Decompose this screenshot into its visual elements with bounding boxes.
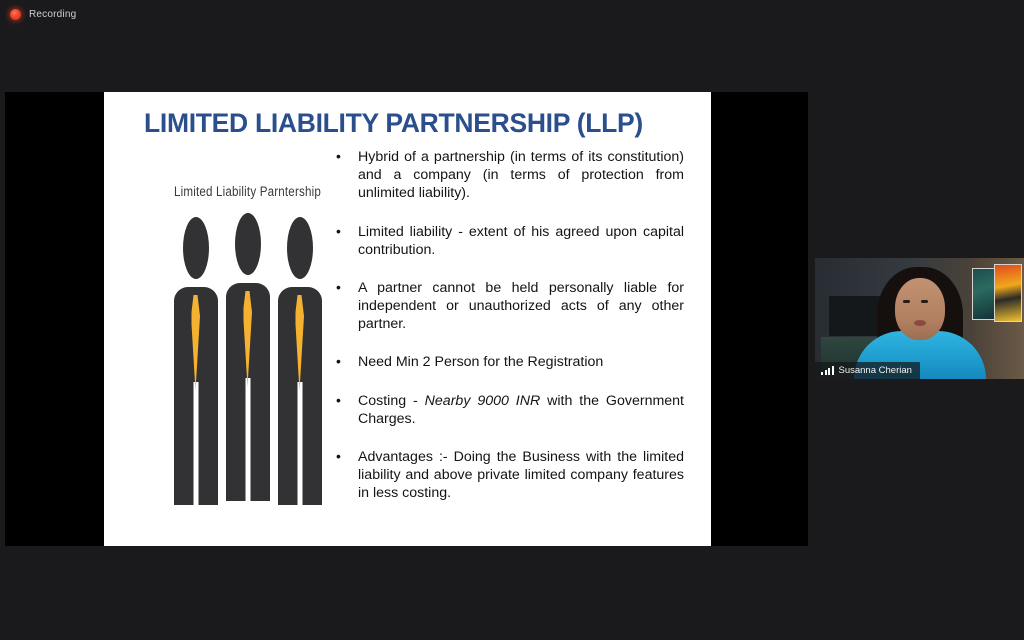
- bullet-text-segment: Limited liability - extent of his agreed…: [358, 224, 684, 258]
- bullet-text-segment: Need Min 2 Person for the Registration: [358, 354, 603, 370]
- slide-title: LIMITED LIABILITY PARTNERSHIP (LLP): [144, 108, 694, 139]
- bullet-text: Costing - Nearby 9000 INR with the Gover…: [358, 393, 684, 427]
- bullet-text-emphasis: Nearby 9000 INR: [425, 393, 541, 409]
- bullet-marker-icon: •: [336, 148, 341, 166]
- participant-face: [895, 278, 945, 340]
- presentation-slide: LIMITED LIABILITY PARTNERSHIP (LLP) Limi…: [104, 92, 711, 546]
- person-head-icon: [183, 217, 209, 279]
- background-artwork-right: [994, 264, 1022, 322]
- bullet-marker-icon: •: [336, 279, 341, 297]
- participant-eye-left: [903, 300, 910, 303]
- slide-bullet: •Hybrid of a partnership (in terms of it…: [332, 148, 684, 203]
- bullet-text: Need Min 2 Person for the Registration: [358, 354, 603, 370]
- bullet-marker-icon: •: [336, 353, 341, 371]
- three-people-graphic: [174, 217, 322, 505]
- bullet-marker-icon: •: [336, 448, 341, 466]
- slide-bullet: •Limited liability - extent of his agree…: [332, 223, 684, 259]
- shared-screen-stage: LIMITED LIABILITY PARTNERSHIP (LLP) Limi…: [5, 92, 808, 546]
- bullet-text: Hybrid of a partnership (in terms of its…: [358, 149, 684, 201]
- person-figure: [226, 213, 270, 501]
- person-head-icon: [235, 213, 261, 275]
- llp-illustration: Limited Liability Parntership: [140, 184, 355, 505]
- zoom-meeting-window: Recording LIMITED LIABILITY PARTNERSHIP …: [0, 0, 1024, 640]
- illustration-caption: Limited Liability Parntership: [155, 184, 340, 199]
- slide-bullet: •Costing - Nearby 9000 INR with the Gove…: [332, 392, 684, 428]
- person-figure: [174, 217, 218, 505]
- bullet-marker-icon: •: [336, 223, 341, 241]
- bullet-marker-icon: •: [336, 392, 341, 410]
- video-background: [815, 258, 1024, 379]
- bullet-text-segment: Advantages :- Doing the Business with th…: [358, 449, 684, 501]
- bullet-text: Advantages :- Doing the Business with th…: [358, 449, 684, 501]
- bullet-text-segment: A partner cannot be held personally liab…: [358, 280, 684, 332]
- bullet-text: Limited liability - extent of his agreed…: [358, 224, 684, 258]
- recording-status-bar: Recording: [0, 0, 1024, 28]
- person-legs-gap: [193, 382, 198, 505]
- slide-bullet: •Need Min 2 Person for the Registration: [332, 353, 684, 371]
- person-legs-gap: [245, 378, 250, 501]
- recording-dot-icon: [10, 9, 21, 20]
- person-legs-gap: [297, 382, 302, 505]
- person-figure: [278, 217, 322, 505]
- slide-bullet-list: •Hybrid of a partnership (in terms of it…: [332, 148, 684, 502]
- participant-video-tile[interactable]: Susanna Cherian: [815, 258, 1024, 379]
- person-head-icon: [287, 217, 313, 279]
- participant-eye-right: [921, 300, 928, 303]
- slide-bullet: •A partner cannot be held personally lia…: [332, 279, 684, 334]
- participant-mouth: [914, 320, 926, 326]
- bullet-text: A partner cannot be held personally liab…: [358, 280, 684, 332]
- recording-label: Recording: [29, 9, 76, 20]
- participant-name: Susanna Cherian: [839, 365, 912, 376]
- slide-bullet: •Advantages :- Doing the Business with t…: [332, 448, 684, 503]
- bullet-text-segment: Costing -: [358, 393, 425, 409]
- signal-bars-icon: [821, 366, 834, 375]
- participant-name-chip: Susanna Cherian: [815, 362, 920, 379]
- bullet-text-segment: Hybrid of a partnership (in terms of its…: [358, 149, 684, 201]
